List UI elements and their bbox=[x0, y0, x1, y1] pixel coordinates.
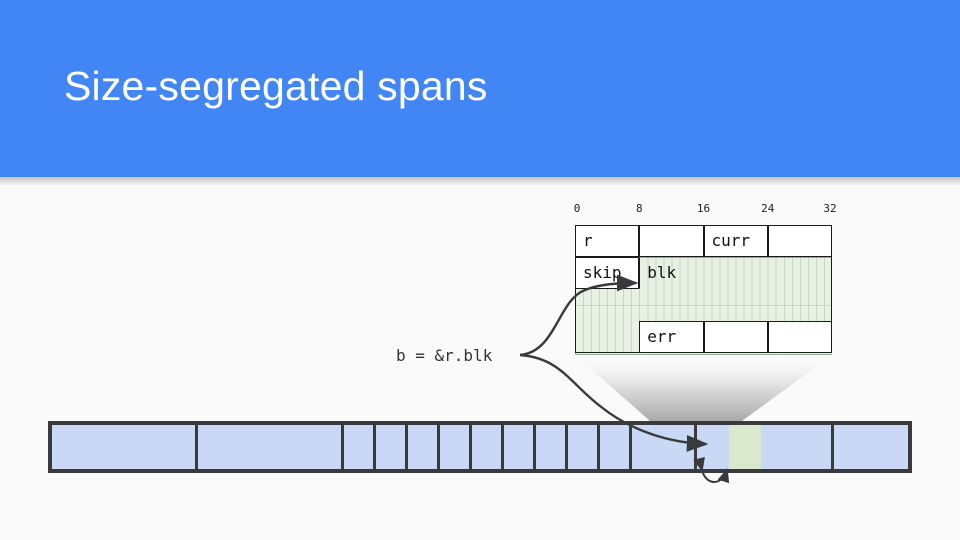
struct-field-err: err bbox=[639, 321, 703, 353]
struct-field-empty bbox=[639, 225, 703, 257]
ruler-tick-label: 24 bbox=[761, 202, 774, 215]
memory-cell bbox=[344, 425, 376, 469]
memory-cell bbox=[472, 425, 504, 469]
memory-cell bbox=[52, 425, 198, 469]
page-title: Size-segregated spans bbox=[64, 63, 488, 110]
struct-field-empty bbox=[704, 321, 768, 353]
pointer-expression-label: b = &r.blk bbox=[396, 346, 492, 365]
ruler-tick-label: 32 bbox=[823, 202, 836, 215]
memory-cell bbox=[834, 425, 908, 469]
struct-field-blk: blk bbox=[639, 257, 832, 289]
ruler-tick-label: 16 bbox=[697, 202, 710, 215]
struct-field-empty bbox=[768, 225, 832, 257]
struct-err-row: err bbox=[575, 321, 832, 353]
memory-cell bbox=[600, 425, 632, 469]
struct-blk-row: skipblk bbox=[575, 257, 832, 289]
blk-field-divider bbox=[575, 305, 832, 306]
funnel-shape bbox=[575, 355, 832, 421]
struct-field-curr: curr bbox=[704, 225, 768, 257]
memory-cell-highlighted bbox=[729, 425, 761, 469]
ruler-tick-label: 8 bbox=[636, 202, 643, 215]
struct-header-row: rcurr bbox=[575, 225, 832, 257]
memory-cell bbox=[761, 425, 834, 469]
memory-cell bbox=[504, 425, 536, 469]
slide: Size-segregated spans 08162432 rcurrskip… bbox=[0, 0, 960, 540]
memory-cell bbox=[198, 425, 344, 469]
memory-cell bbox=[568, 425, 600, 469]
memory-span-bar bbox=[48, 421, 912, 473]
memory-cell bbox=[376, 425, 408, 469]
memory-cell bbox=[697, 425, 729, 469]
struct-field-empty bbox=[768, 321, 832, 353]
ruler-tick-label: 0 bbox=[574, 202, 581, 215]
struct-field-skip: skip bbox=[575, 257, 639, 289]
memory-cell bbox=[440, 425, 472, 469]
header-shadow bbox=[0, 177, 960, 186]
byte-offset-ruler: 08162432 bbox=[575, 202, 832, 218]
memory-cell bbox=[536, 425, 568, 469]
memory-cell bbox=[632, 425, 697, 469]
struct-field-r: r bbox=[575, 225, 639, 257]
memory-cell bbox=[408, 425, 440, 469]
